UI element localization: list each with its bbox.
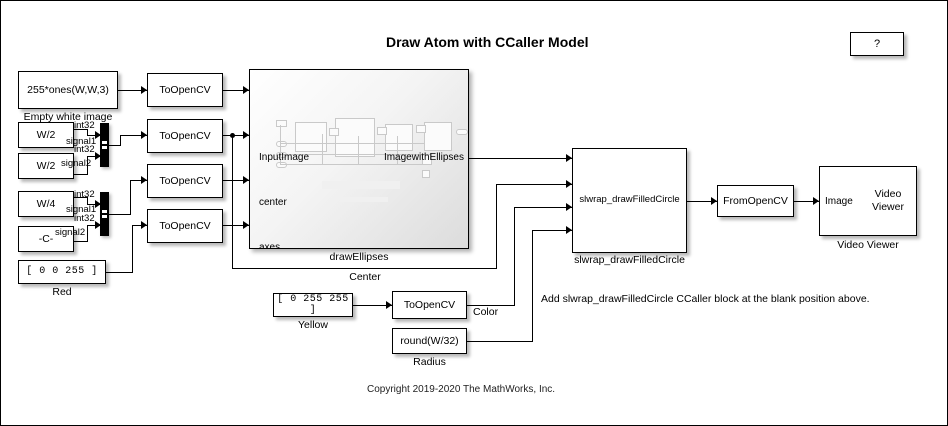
- preview-mini-port-9: [422, 170, 430, 178]
- block-to-opencv-image[interactable]: ToOpenCV: [147, 73, 223, 107]
- caption-yellow: Yellow: [273, 319, 353, 331]
- constant-empty-white-image[interactable]: 255*ones(W,W,3): [18, 71, 118, 109]
- preview-mini-port-2: [329, 128, 339, 136]
- caption-video-viewer: Video Viewer: [819, 239, 917, 251]
- block-to-opencv-color[interactable]: ToOpenCV: [147, 209, 223, 243]
- preview-mini-port-5: [276, 141, 287, 147]
- wire-radius-a: [467, 341, 533, 342]
- preview-mini-out: [456, 129, 468, 135]
- wire-red-a: [106, 272, 133, 273]
- preview-mini-block-2: [335, 118, 375, 157]
- caption-radius: Radius: [392, 356, 467, 368]
- block-from-opencv[interactable]: FromOpenCV: [717, 185, 794, 217]
- caption-draw-ellipses: drawEllipses: [249, 251, 469, 263]
- wire-c-b: [87, 225, 88, 242]
- preview-mini-port-4: [416, 125, 426, 133]
- preview-vline-2: [322, 134, 323, 164]
- preview-bar-2: [340, 197, 388, 202]
- signal-label-int32-b: int32: [74, 144, 95, 155]
- preview-mini-port-3: [377, 127, 387, 135]
- wire-centerbranch-h: [232, 268, 497, 269]
- port-label-image-with-ellipses: ImagewithEllipses: [384, 152, 464, 163]
- wire-radius-b: [532, 230, 533, 342]
- block-to-opencv-yellow[interactable]: ToOpenCV: [392, 291, 467, 319]
- video-viewer-body-line1: Video: [864, 188, 912, 201]
- block-to-opencv-axes[interactable]: ToOpenCV: [147, 164, 223, 198]
- constant-red[interactable]: [ 0 0 255 ]: [18, 260, 106, 284]
- wire-c-a: [74, 241, 88, 242]
- constant-yellow[interactable]: [ 0 255 255 ]: [273, 293, 353, 317]
- preview-bar-1: [322, 181, 400, 189]
- port-label-input-image: InputImage: [259, 152, 309, 163]
- signal-label-int32-c: int32: [74, 189, 95, 200]
- preview-mini-block-3: [385, 124, 413, 151]
- wire-mux1-b: [120, 135, 121, 146]
- wire-red-b: [132, 225, 133, 273]
- video-viewer-body-line2: Viewer: [864, 201, 912, 214]
- caption-red: Red: [18, 286, 106, 298]
- wire-centerbranch-v: [232, 135, 233, 269]
- mux-center[interactable]: [100, 123, 109, 167]
- help-button[interactable]: ?: [850, 32, 904, 56]
- caption-slwrap-drawfilledcircle: slwrap_drawFilledCircle: [572, 254, 687, 266]
- signal-label-signal2-b: signal2: [55, 227, 85, 238]
- copyright-text: Copyright 2019-2020 The MathWorks, Inc.: [367, 384, 555, 395]
- simulink-model-canvas: Draw Atom with CCaller Model ?: [0, 0, 948, 426]
- annotation-note: Add slwrap_drawFilledCircle CCaller bloc…: [541, 293, 870, 305]
- wire-imageellipses: [469, 158, 572, 159]
- wire-colorwire-c: [514, 207, 572, 208]
- wire-label-color: Color: [473, 306, 498, 318]
- preview-vline-3: [358, 136, 359, 164]
- subsystem-draw-ellipses[interactable]: InputImage center axes Color ImagewithEl…: [249, 69, 469, 249]
- signal-label-int32-d: int32: [74, 213, 95, 224]
- port-label-viewer-image: Image: [825, 196, 853, 208]
- preview-line-3: [280, 164, 425, 165]
- block-video-viewer[interactable]: Image Video Viewer: [819, 166, 917, 236]
- junction-center: [230, 133, 235, 138]
- mux-axes[interactable]: [100, 192, 109, 236]
- signal-label-signal2-a: signal2: [61, 158, 91, 169]
- port-label-center: center: [259, 197, 287, 208]
- block-slwrap-drawfilledcircle[interactable]: slwrap_drawFilledCircle: [572, 148, 687, 253]
- port-label-axes: axes: [259, 242, 280, 249]
- preview-mini-port-1: [276, 120, 287, 127]
- wire-label-center: Center: [301, 271, 429, 283]
- wire-mux2-a: [109, 214, 131, 215]
- signal-label-int32-a: int32: [74, 120, 95, 131]
- caption-empty-white-image: Empty white image: [18, 111, 118, 123]
- wire-centerbranch-in: [496, 184, 572, 185]
- wire-mux2-b: [130, 180, 131, 215]
- preview-line-1: [280, 143, 425, 144]
- preview-mini-block-4: [424, 122, 452, 151]
- wire-centerbranch-up: [496, 184, 497, 269]
- wire-colorwire-b: [514, 207, 515, 306]
- wire-wh2-a: [74, 174, 88, 175]
- block-to-opencv-center[interactable]: ToOpenCV: [147, 119, 223, 153]
- constant-radius[interactable]: round(W/32): [392, 328, 467, 354]
- page-title: Draw Atom with CCaller Model: [386, 34, 589, 50]
